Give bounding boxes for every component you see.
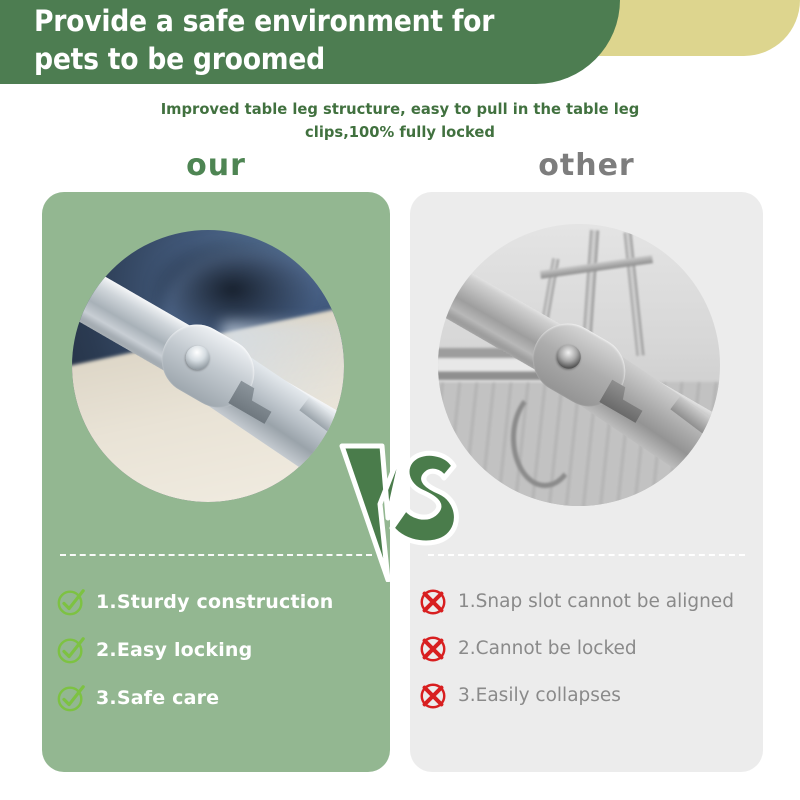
list-item: 1.Sturdy construction [56, 578, 380, 626]
list-item-label: 2.Easy locking [96, 639, 252, 661]
list-item: 3.Safe care [56, 674, 380, 722]
column-heading-ours: our [42, 148, 390, 183]
check-circle-icon [56, 635, 86, 665]
bullet-list-other: 1.Snap slot cannot be aligned 2.Cannot b… [418, 578, 753, 719]
cross-circle-icon [418, 634, 448, 664]
list-item-label: 1.Snap slot cannot be aligned [458, 591, 734, 612]
infographic-root: Provide a safe environment for pets to b… [0, 0, 800, 800]
list-item: 2.Easy locking [56, 626, 380, 674]
list-item-label: 1.Sturdy construction [96, 591, 333, 613]
divider-ours [60, 554, 372, 556]
photo-other-chair-leg [623, 232, 644, 356]
header-banner: Provide a safe environment for pets to b… [0, 0, 800, 92]
list-item-label: 3.Easily collapses [458, 685, 621, 706]
photo-ours [72, 230, 344, 502]
list-item-label: 2.Cannot be locked [458, 638, 637, 659]
bullet-list-ours: 1.Sturdy construction 2.Easy locking [56, 578, 380, 722]
page-title: Provide a safe environment for pets to b… [34, 2, 558, 78]
list-item: 1.Snap slot cannot be aligned [418, 578, 753, 625]
page-subtitle: Improved table leg structure, easy to pu… [115, 98, 685, 144]
list-item: 3.Easily collapses [418, 672, 753, 719]
photo-other-cable [511, 388, 579, 488]
check-circle-icon [56, 683, 86, 713]
photo-other [438, 224, 720, 506]
column-heading-other: other [410, 148, 763, 183]
cross-circle-icon [418, 681, 448, 711]
list-item-label: 3.Safe care [96, 687, 219, 709]
cross-circle-icon [418, 587, 448, 617]
vs-badge-icon [336, 432, 464, 582]
check-circle-icon [56, 587, 86, 617]
list-item: 2.Cannot be locked [418, 625, 753, 672]
divider-other [428, 554, 745, 556]
